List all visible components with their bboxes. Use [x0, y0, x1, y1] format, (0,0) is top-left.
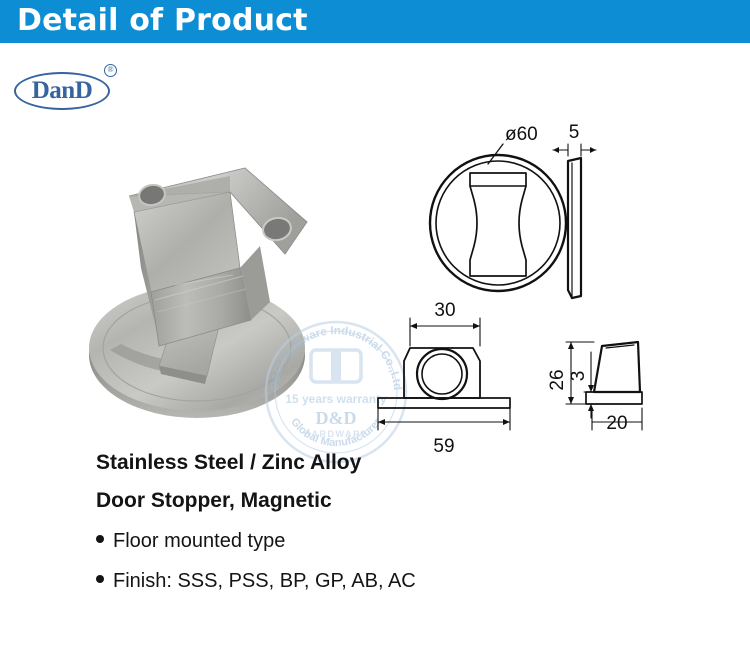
front-view-drawing: [378, 318, 510, 430]
spec-bullet-finish: Finish: SSS, PSS, BP, GP, AB, AC: [96, 571, 656, 591]
plate-thickness-dimension-label: 5: [569, 122, 580, 143]
right-view-width-dimension-label: 20: [606, 413, 627, 434]
brand-logo: DanD ®: [14, 62, 134, 118]
spec-bullet-floor-mounted: Floor mounted type: [96, 531, 656, 551]
right-view-height-dimension-label: 26: [547, 369, 568, 390]
product-photo: [55, 150, 355, 440]
spec-product-name: Door Stopper, Magnetic: [96, 490, 656, 511]
front-view-top-dimension-label: 30: [434, 300, 455, 321]
page-title: Detail of Product: [17, 3, 308, 38]
spec-bullet-text: Finish: SSS, PSS, BP, GP, AB, AC: [113, 571, 416, 591]
top-view-drawing: [430, 144, 566, 291]
product-spec-block: Stainless Steel / Zinc Alloy Door Stoppe…: [96, 452, 656, 611]
top-view-dimension-label: ø60: [505, 124, 538, 145]
technical-drawings: ø60 5: [370, 118, 750, 458]
registered-trademark-icon: ®: [104, 64, 117, 77]
right-view-base-thickness-label: 3: [568, 371, 589, 382]
technical-drawings-svg: ø60 5: [370, 118, 750, 458]
spec-material: Stainless Steel / Zinc Alloy: [96, 452, 656, 473]
bullet-dot-icon: [96, 575, 104, 583]
product-photo-svg: [55, 150, 355, 440]
right-side-view-drawing: [566, 342, 642, 430]
logo-brand-text: DanD: [14, 72, 110, 110]
bullet-dot-icon: [96, 535, 104, 543]
spec-bullet-text: Floor mounted type: [113, 531, 285, 551]
